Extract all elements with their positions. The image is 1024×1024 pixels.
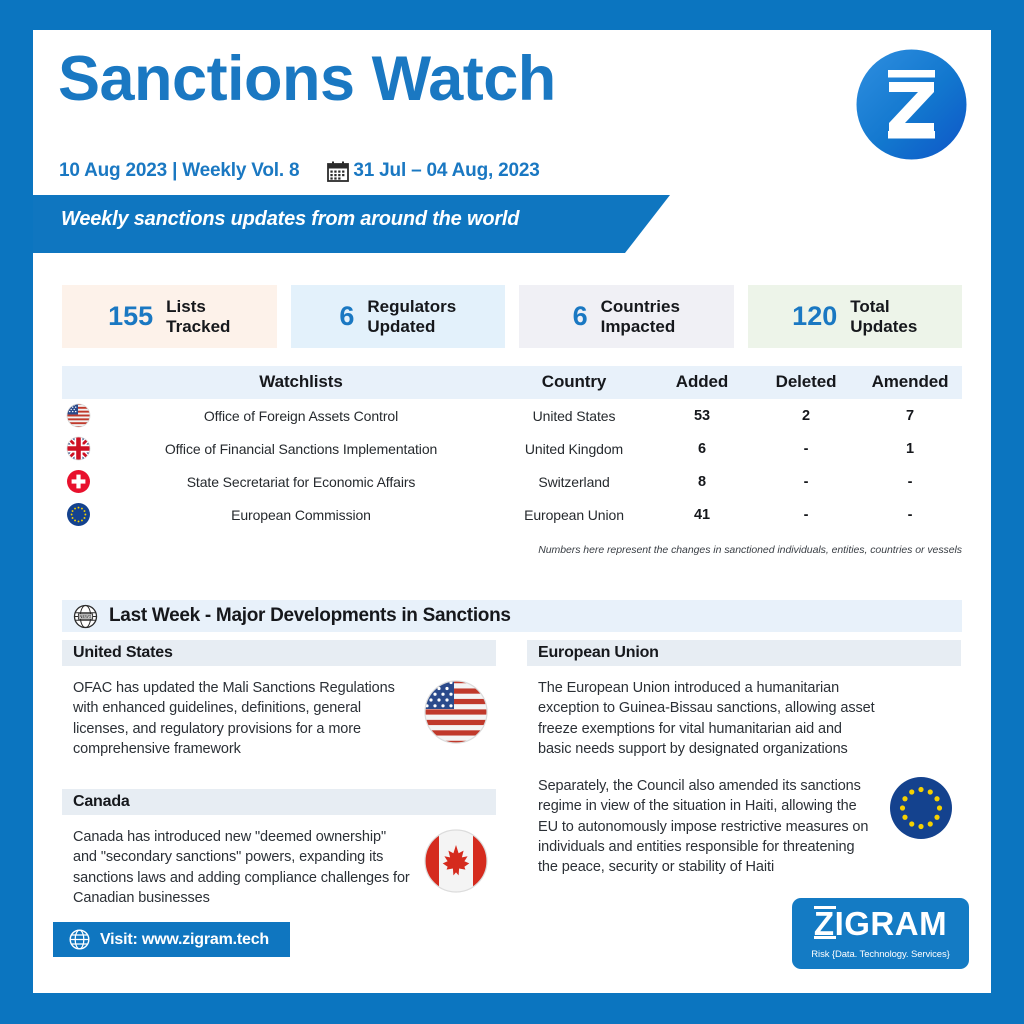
cell-amended: 7	[858, 399, 962, 432]
table-row: Office of Financial Sanctions Implementa…	[62, 432, 962, 465]
zigram-bar-bottom	[814, 936, 836, 939]
col-flag	[62, 366, 104, 399]
stat-card: 6 Countries Impacted	[519, 285, 734, 348]
zigram-z-logo-icon	[855, 48, 968, 161]
stat-label-line1: Total	[850, 297, 917, 316]
developments-heading: Last Week - Major Developments in Sancti…	[109, 605, 511, 627]
col-deleted: Deleted	[754, 366, 858, 399]
row-flag-cell	[62, 432, 104, 465]
cell-watchlist: Office of Foreign Assets Control	[104, 399, 498, 432]
cell-added: 6	[650, 432, 754, 465]
cell-watchlist: Office of Financial Sanctions Implementa…	[104, 432, 498, 465]
section-title-united-states: United States	[62, 640, 496, 666]
date-range-label: 31 Jul – 04 Aug, 2023	[353, 160, 539, 182]
section-text: The European Union introduced a humanita…	[538, 678, 875, 878]
flag-slot	[410, 827, 496, 895]
cell-amended: -	[858, 465, 962, 498]
cell-country: United Kingdom	[498, 432, 650, 465]
cell-deleted: -	[754, 432, 858, 465]
col-watchlists: Watchlists	[104, 366, 498, 399]
paragraph: OFAC has updated the Mali Sanctions Regu…	[73, 678, 410, 759]
stat-value: 120	[792, 303, 837, 330]
stat-label-line1: Regulators	[367, 297, 456, 316]
paragraph: The European Union introduced a humanita…	[538, 678, 875, 759]
section-body-united-states: OFAC has updated the Mali Sanctions Regu…	[62, 666, 496, 759]
cell-deleted: -	[754, 465, 858, 498]
watchlist-table-wrap: Watchlists Country Added Deleted Amended	[62, 366, 962, 531]
zigram-tagline: Risk {Data. Technology. Services}	[811, 949, 949, 960]
stat-card: 155 Lists Tracked	[62, 285, 277, 348]
cell-amended: -	[858, 498, 962, 531]
developments-right-column: European Union The European Union introd…	[527, 640, 961, 908]
flag-canada-icon	[422, 827, 490, 895]
flag-slot	[875, 678, 961, 842]
row-flag-cell	[62, 399, 104, 432]
flag-united-states-icon	[422, 678, 490, 746]
stat-label: Countries Impacted	[601, 297, 680, 336]
row-flag-cell	[62, 465, 104, 498]
row-flag-cell	[62, 498, 104, 531]
cell-watchlist: European Commission	[104, 498, 498, 531]
zigram-wordmark: ZIGRAM	[814, 907, 947, 940]
date-range-group: 31 Jul – 04 Aug, 2023	[327, 160, 539, 182]
infographic-page: Sanctions Watch 10 Aug 2023 | Weekly Vol…	[0, 0, 1024, 1024]
stat-value: 6	[339, 303, 354, 330]
flag-european-union-icon	[66, 502, 91, 527]
table-row: Office of Foreign Assets Control United …	[62, 399, 962, 432]
flag-european-union-icon	[887, 774, 955, 842]
section-title-canada: Canada	[62, 789, 496, 815]
stat-label-line2: Impacted	[601, 317, 680, 336]
paragraph: Separately, the Council also amended its…	[538, 776, 875, 877]
developments-header: NEWS Last Week - Major Developments in S…	[62, 600, 962, 632]
section-text: OFAC has updated the Mali Sanctions Regu…	[73, 678, 410, 759]
content-card: Sanctions Watch 10 Aug 2023 | Weekly Vol…	[33, 30, 991, 993]
developments-left-column: United States OFAC has updated the Mali …	[62, 640, 496, 908]
globe-icon	[69, 929, 90, 950]
stat-label-line1: Lists	[166, 297, 230, 316]
cell-added: 41	[650, 498, 754, 531]
cell-watchlist: State Secretariat for Economic Affairs	[104, 465, 498, 498]
stat-card: 120 Total Updates	[748, 285, 963, 348]
col-country: Country	[498, 366, 650, 399]
stat-label-line2: Updates	[850, 317, 917, 336]
section-body-european-union: The European Union introduced a humanita…	[527, 666, 961, 878]
cell-added: 53	[650, 399, 754, 432]
stat-label-line1: Countries	[601, 297, 680, 316]
header: Sanctions Watch 10 Aug 2023 | Weekly Vol…	[33, 30, 991, 48]
subtitle-label: Weekly sanctions updates from around the…	[61, 208, 519, 231]
visit-website-button[interactable]: Visit: www.zigram.tech	[53, 922, 290, 957]
page-title: Sanctions Watch	[58, 48, 556, 111]
stat-label: Total Updates	[850, 297, 917, 336]
developments-columns: United States OFAC has updated the Mali …	[62, 640, 962, 908]
flag-slot	[410, 678, 496, 746]
cell-added: 8	[650, 465, 754, 498]
table-footnote: Numbers here represent the changes in sa…	[538, 544, 962, 556]
flag-united-states-icon	[66, 403, 91, 428]
stats-row: 155 Lists Tracked 6 Regulators Updated 6…	[62, 285, 962, 348]
header-meta: 10 Aug 2023 | Weekly Vol. 8	[59, 160, 540, 182]
table-row: State Secretariat for Economic Affairs S…	[62, 465, 962, 498]
cell-country: United States	[498, 399, 650, 432]
watchlist-table: Watchlists Country Added Deleted Amended	[62, 366, 962, 531]
flag-switzerland-icon	[66, 469, 91, 494]
section-body-canada: Canada has introduced new "deemed owners…	[62, 815, 496, 908]
stat-value: 6	[573, 303, 588, 330]
svg-text:NEWS: NEWS	[79, 614, 92, 619]
table-header-row: Watchlists Country Added Deleted Amended	[62, 366, 962, 399]
flag-united-kingdom-icon	[66, 436, 91, 461]
stat-value: 155	[108, 303, 153, 330]
stat-label-line2: Tracked	[166, 317, 230, 336]
col-added: Added	[650, 366, 754, 399]
col-amended: Amended	[858, 366, 962, 399]
cell-country: Switzerland	[498, 465, 650, 498]
section-text: Canada has introduced new "deemed owners…	[73, 827, 410, 908]
calendar-icon	[327, 161, 349, 182]
section-title-european-union: European Union	[527, 640, 961, 666]
stat-label-line2: Updated	[367, 317, 456, 336]
stat-label: Lists Tracked	[166, 297, 230, 336]
cell-deleted: 2	[754, 399, 858, 432]
stat-label: Regulators Updated	[367, 297, 456, 336]
zigram-logo[interactable]: ZIGRAM Risk {Data. Technology. Services}	[792, 898, 969, 969]
table-row: European Commission European Union 41 - …	[62, 498, 962, 531]
zigram-bar-top	[814, 906, 836, 909]
visit-label: Visit: www.zigram.tech	[100, 931, 269, 949]
cell-country: European Union	[498, 498, 650, 531]
stat-card: 6 Regulators Updated	[291, 285, 506, 348]
cell-deleted: -	[754, 498, 858, 531]
volume-label: 10 Aug 2023 | Weekly Vol. 8	[59, 160, 299, 182]
news-globe-icon: NEWS	[73, 604, 98, 629]
paragraph: Canada has introduced new "deemed owners…	[73, 827, 410, 908]
cell-amended: 1	[858, 432, 962, 465]
